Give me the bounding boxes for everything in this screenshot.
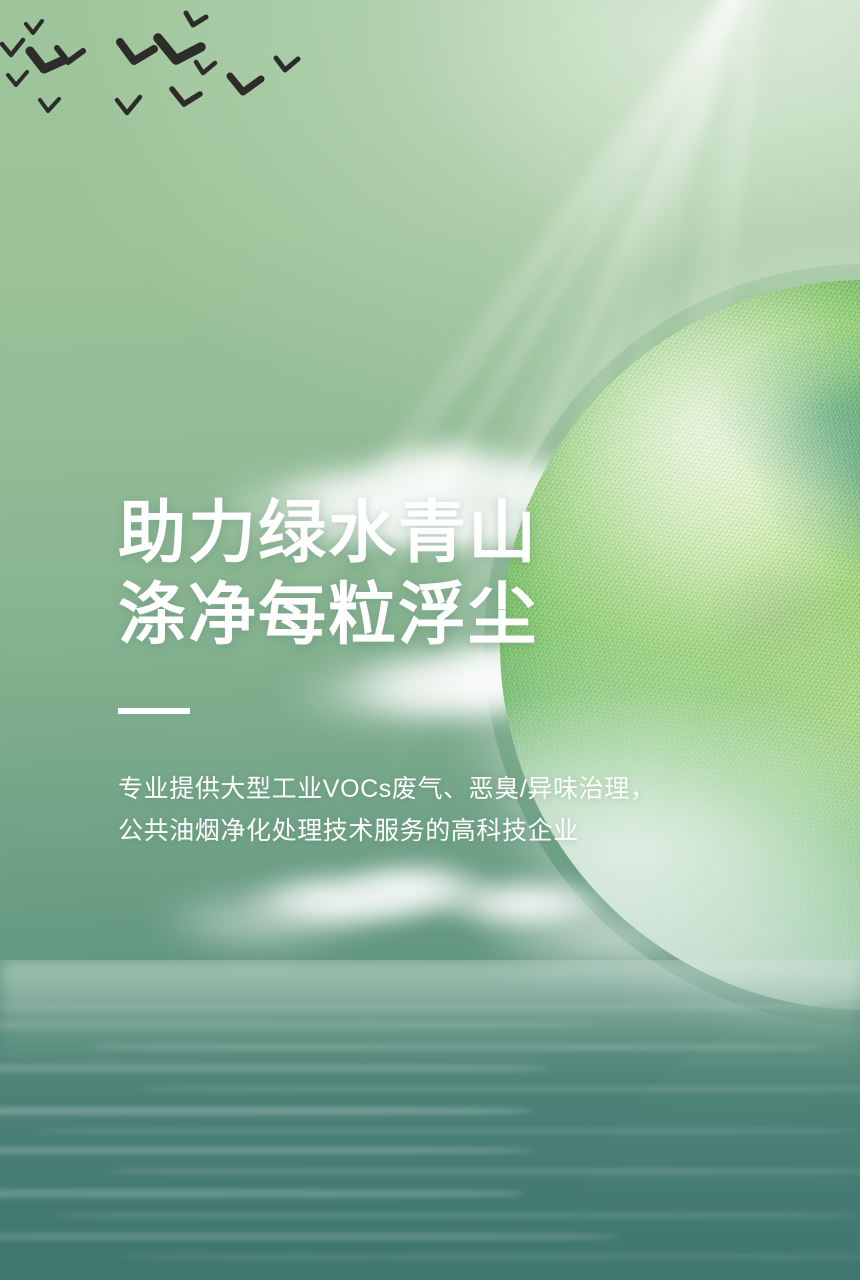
bird-icon	[40, 99, 59, 111]
water-ripple	[0, 1106, 533, 1116]
water-ripple	[0, 1022, 602, 1029]
cloud	[236, 866, 446, 936]
water-ripple	[0, 1188, 525, 1199]
water-ripple	[0, 1232, 619, 1241]
bird-icon	[196, 62, 215, 73]
headline-line-1: 助力绿水青山	[118, 492, 658, 574]
water-ripple	[0, 1146, 533, 1155]
bird-icon	[26, 21, 42, 33]
water-ripple	[0, 1064, 550, 1073]
water-haze	[0, 960, 860, 1080]
reflection-veil	[560, 1000, 860, 1280]
water-ripple	[34, 1128, 860, 1134]
water-ripple	[0, 1004, 860, 1009]
reflection-grass-texture	[560, 1000, 860, 1280]
cloud	[330, 856, 500, 922]
bird-icon	[57, 48, 83, 62]
bird-icon	[186, 13, 206, 25]
water-ripple	[86, 1044, 826, 1050]
cloud	[432, 872, 622, 936]
water-ripple	[52, 1212, 860, 1219]
bird-icon	[172, 89, 200, 104]
water-surface	[0, 960, 860, 1280]
bird-icon	[30, 51, 64, 69]
cloud	[150, 890, 370, 952]
light-ray	[674, 0, 782, 836]
title-divider	[118, 708, 190, 714]
hero-copy: 助力绿水青山 涤净每粒浮尘 专业提供大型工业VOCs废气、恶臭/异味治理， 公共…	[118, 492, 658, 852]
water-ripple	[138, 1086, 860, 1092]
bird-icon	[158, 38, 201, 60]
subtitle-line-2: 公共油烟净化处理技术服务的高科技企业	[118, 810, 658, 852]
cloud	[470, 900, 730, 980]
hero-poster: 助力绿水青山 涤净每粒浮尘 专业提供大型工业VOCs废气、恶臭/异味治理， 公共…	[0, 0, 860, 1280]
birds-svg	[0, 0, 430, 140]
water-ripple	[120, 1254, 860, 1260]
bird-icon	[276, 58, 298, 70]
subtitle-line-1: 专业提供大型工业VOCs废气、恶臭/异味治理，	[118, 768, 658, 810]
bird-icon	[230, 76, 261, 92]
bird-icon	[117, 97, 140, 113]
bird-icon	[8, 72, 27, 85]
water-ripple	[103, 1168, 860, 1175]
birds-flock	[0, 0, 430, 140]
globe-reflection	[560, 1000, 860, 1280]
page-title: 助力绿水青山 涤净每粒浮尘	[118, 492, 658, 656]
headline-line-2: 涤净每粒浮尘	[118, 574, 658, 656]
bird-icon	[120, 42, 154, 61]
hero-subtitle: 专业提供大型工业VOCs废气、恶臭/异味治理， 公共油烟净化处理技术服务的高科技…	[118, 768, 658, 852]
bird-icon	[2, 40, 23, 55]
